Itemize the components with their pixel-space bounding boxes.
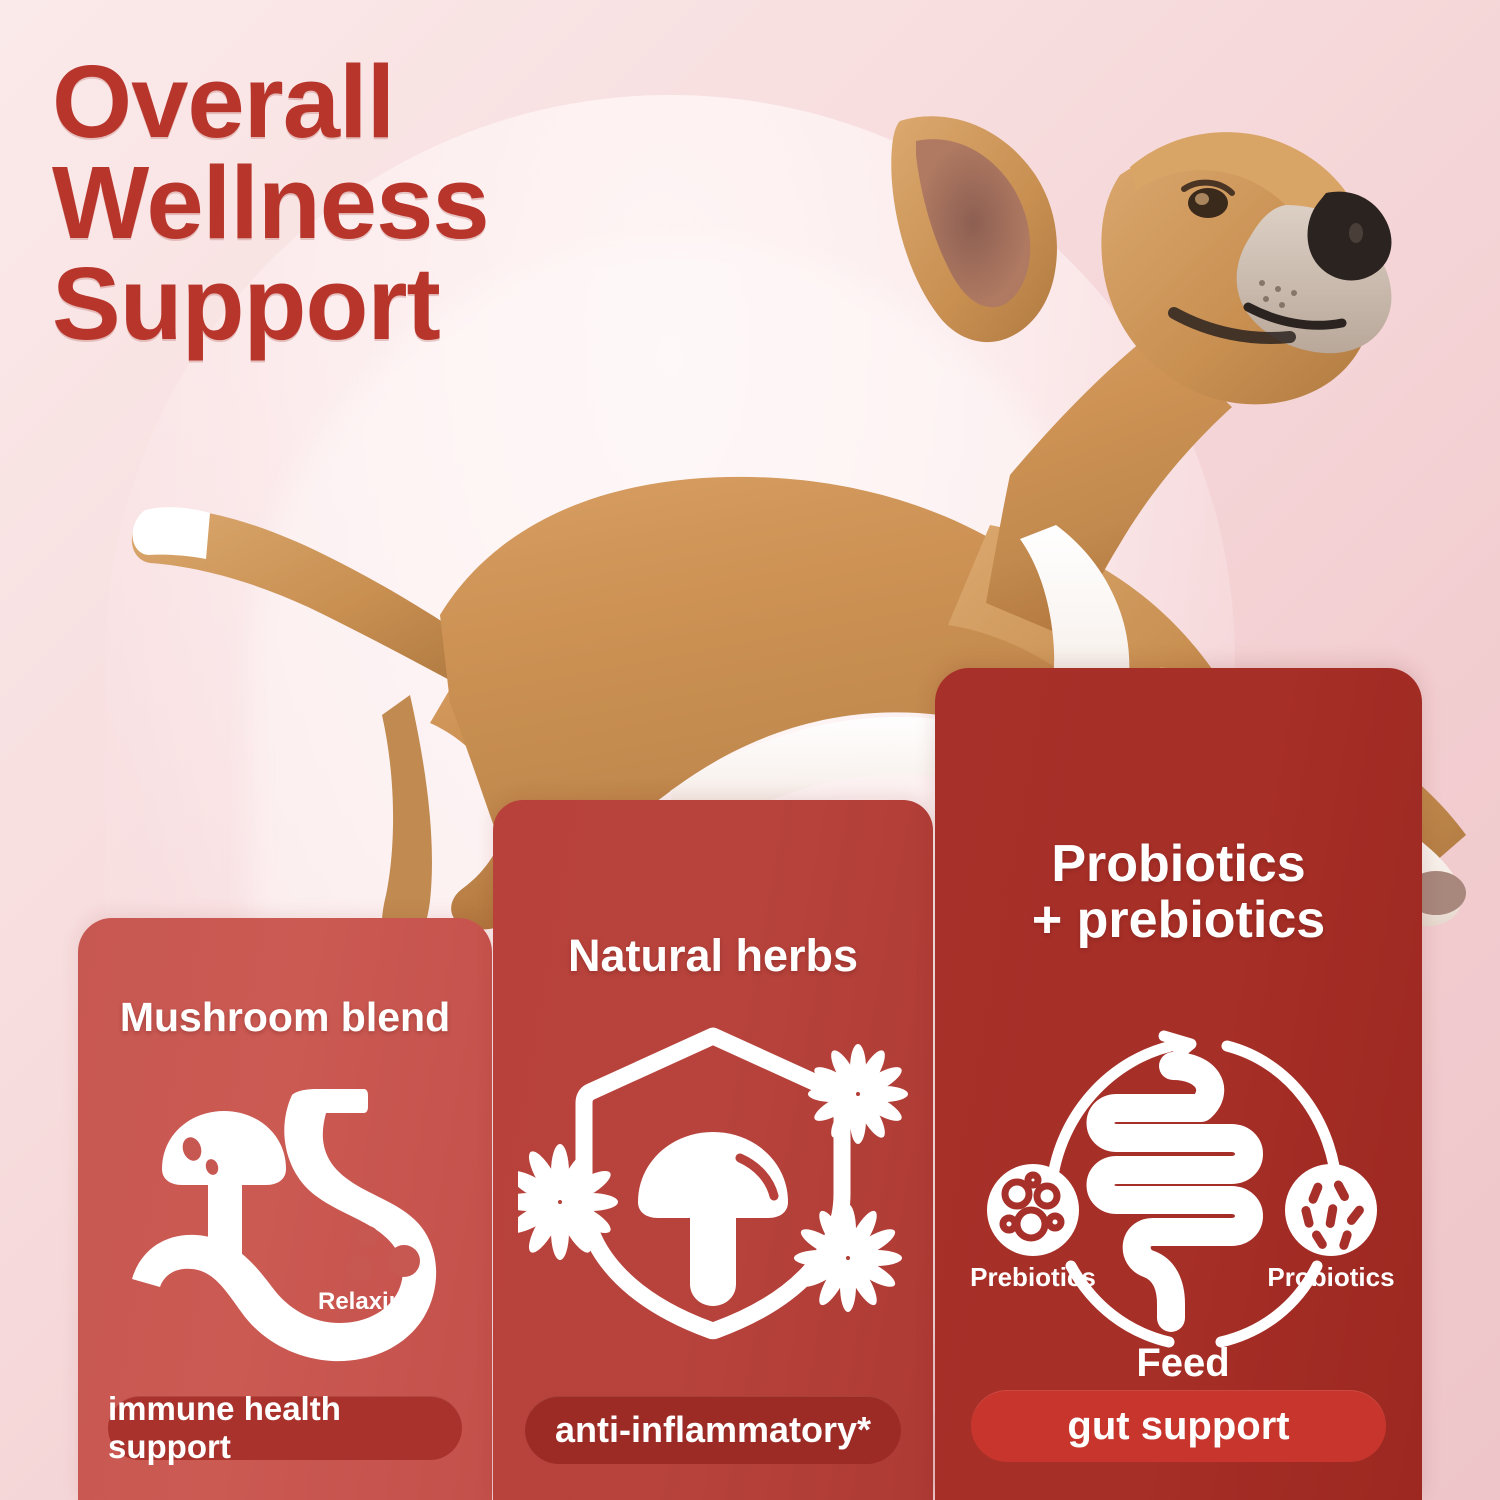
feature-card-mushroom-blend[interactable]: Mushroom blend Relaxing immune health su… [78,918,492,1500]
feed-label: Feed [1136,1341,1229,1385]
prebiotics-label: Prebiotics [970,1262,1096,1292]
probiotics-label: Probiotics [1267,1262,1394,1292]
badge-gut-support[interactable]: gut support [971,1390,1386,1462]
relaxing-label: Relaxing [318,1288,418,1315]
badge-immune-health-support[interactable]: immune health support [108,1396,462,1460]
card-title-probiotics-prebiotics: Probiotics + prebiotics [935,836,1422,948]
shield-mushroom-icon [493,1018,933,1348]
card-title-natural-herbs: Natural herbs [493,930,933,982]
card-title-mushroom-blend: Mushroom blend [78,994,492,1041]
feature-card-natural-herbs[interactable]: Natural herbs [493,800,933,1500]
badge-anti-inflammatory[interactable]: anti-inflammatory* [525,1396,901,1464]
feature-card-probiotics-prebiotics[interactable]: Probiotics + prebiotics [935,668,1422,1500]
infographic-stage: Overall Wellness Support [0,0,1500,1500]
gut-cycle-icon: Prebiotics Probiotics Feed [935,998,1422,1398]
stomach-mushroom-icon: Relaxing [78,1073,492,1373]
